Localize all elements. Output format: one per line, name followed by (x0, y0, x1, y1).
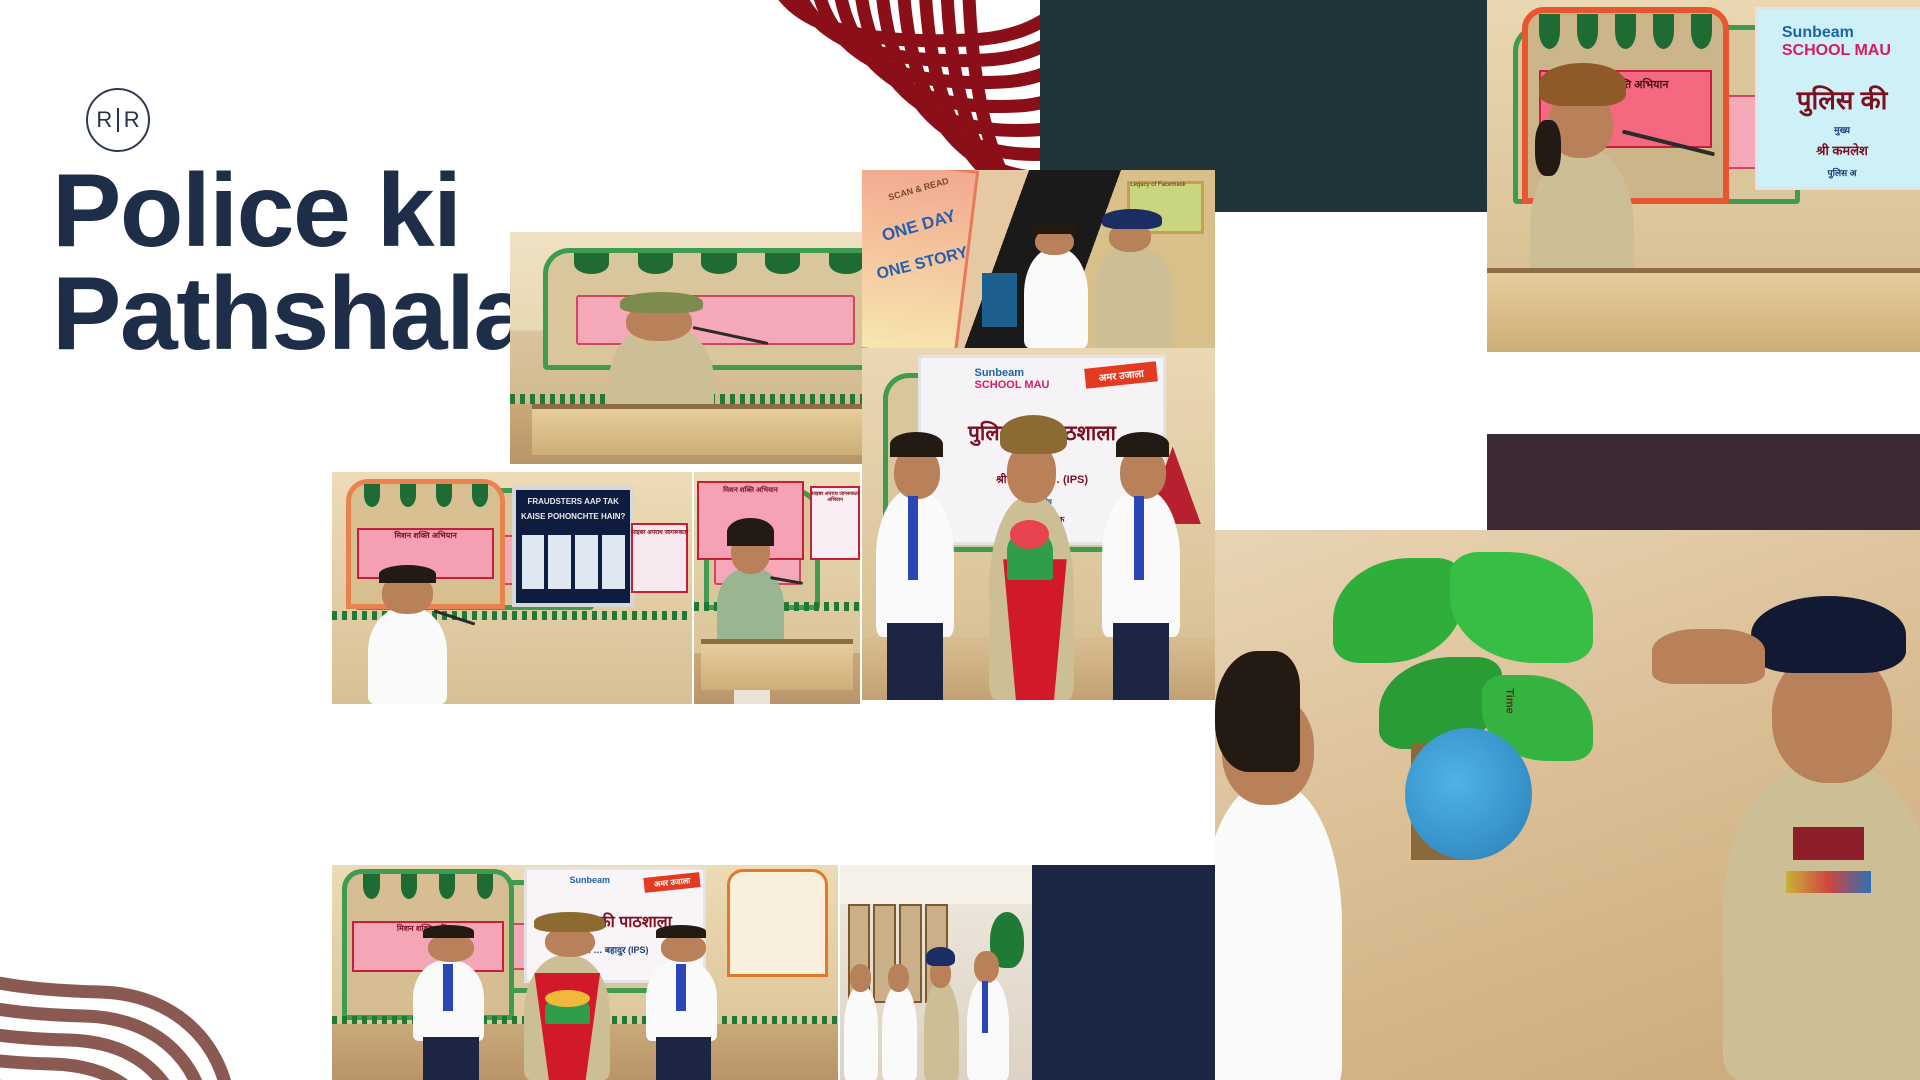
photo-woman-speaker-podium: मिशन शक्ति अभियान साइबर अपराध जागरूकता अ… (694, 472, 860, 704)
photo-tile[interactable]: मिशन शक्ति अभियान Sunbeam SCHOOL MAU पुल… (1487, 0, 1920, 352)
logo-letter-right: R (124, 107, 140, 133)
photo-tile[interactable]: मिशन शक्ति अभियान FRAUDSTERS AAP TAK KAI… (332, 472, 692, 704)
photo-one-day-one-story: SCAN & READ ONE DAY ONE STORY Legacy of … (862, 170, 1215, 348)
poster-sub-2: श्री कमलेश (1758, 141, 1920, 159)
poster-sub-1: मुख्य (1758, 123, 1920, 136)
wall-banner-right: साइबर अपराध जागरूकता (631, 528, 689, 536)
wall-banner-text: मिशन शक्ति अभियान (699, 486, 802, 495)
poster-canvas: R R Police ki Pathshala साइबर हेल्पलाइन … (0, 0, 1920, 1080)
artwork-label: Time (1504, 688, 1516, 713)
rr-monogram-logo: R R (86, 88, 150, 152)
logo-letter-left: R (96, 107, 112, 133)
press-tag: अमर उजाला (1085, 362, 1159, 389)
poster-sub-3: पुलिस अ (1758, 166, 1920, 179)
photo-tile[interactable]: Time (1215, 530, 1920, 1080)
school-name: Sunbeam (975, 367, 1025, 379)
wall-banner-left: मिशन शक्ति अभियान (361, 530, 491, 541)
school-subtitle: SCHOOL MAU (1782, 42, 1891, 60)
school-name: Sunbeam (1782, 24, 1854, 41)
poster-title: पुलिस की (1758, 81, 1920, 117)
photo-tile[interactable]: मिशन शक्ति अभियान साइबर अपराध जागरूकता अ… (694, 472, 860, 704)
slide-line-1: FRAUDSTERS AAP TAK (521, 497, 626, 506)
photo-tile[interactable] (840, 865, 1032, 1080)
press-tag: अमर उजाला (643, 872, 701, 893)
photo-student-painting: Time (1215, 530, 1920, 1080)
photo-officer-felicitation-ips: मिशन शक्ति अभियान Sunbeam अमर उजाला पुलि… (332, 865, 838, 1080)
bottom-wave-decoration (0, 620, 320, 1080)
photo-lady-officer-podium: मिशन शक्ति अभियान Sunbeam SCHOOL MAU पुल… (1487, 0, 1920, 352)
slide-line-2: KAISE POHONCHTE HAIN? (521, 512, 626, 521)
wall-chart-label: Legacy of Facemask (1130, 182, 1201, 188)
photo-felicitation-lady-officer: Sunbeam SCHOOL MAU अमर उजाला पुलिस की पा… (862, 348, 1215, 700)
photo-gallery-walkthrough (840, 865, 1032, 1080)
logo-divider (117, 108, 119, 132)
photo-tile[interactable]: मिशन शक्ति अभियान Sunbeam अमर उजाला पुलि… (332, 865, 838, 1080)
photo-fraudsters-presentation: मिशन शक्ति अभियान FRAUDSTERS AAP TAK KAI… (332, 472, 692, 704)
school-subtitle: SCHOOL MAU (975, 379, 1050, 391)
accent-block-plum (1487, 434, 1920, 530)
photo-tile[interactable]: Sunbeam SCHOOL MAU अमर उजाला पुलिस की पा… (862, 348, 1215, 700)
school-name: Sunbeam (570, 875, 611, 885)
photo-tile[interactable]: SCAN & READ ONE DAY ONE STORY Legacy of … (862, 170, 1215, 348)
accent-block-navy (1032, 865, 1215, 1080)
wall-banner-right: साइबर अपराध जागरूकता अभियान (810, 491, 860, 503)
